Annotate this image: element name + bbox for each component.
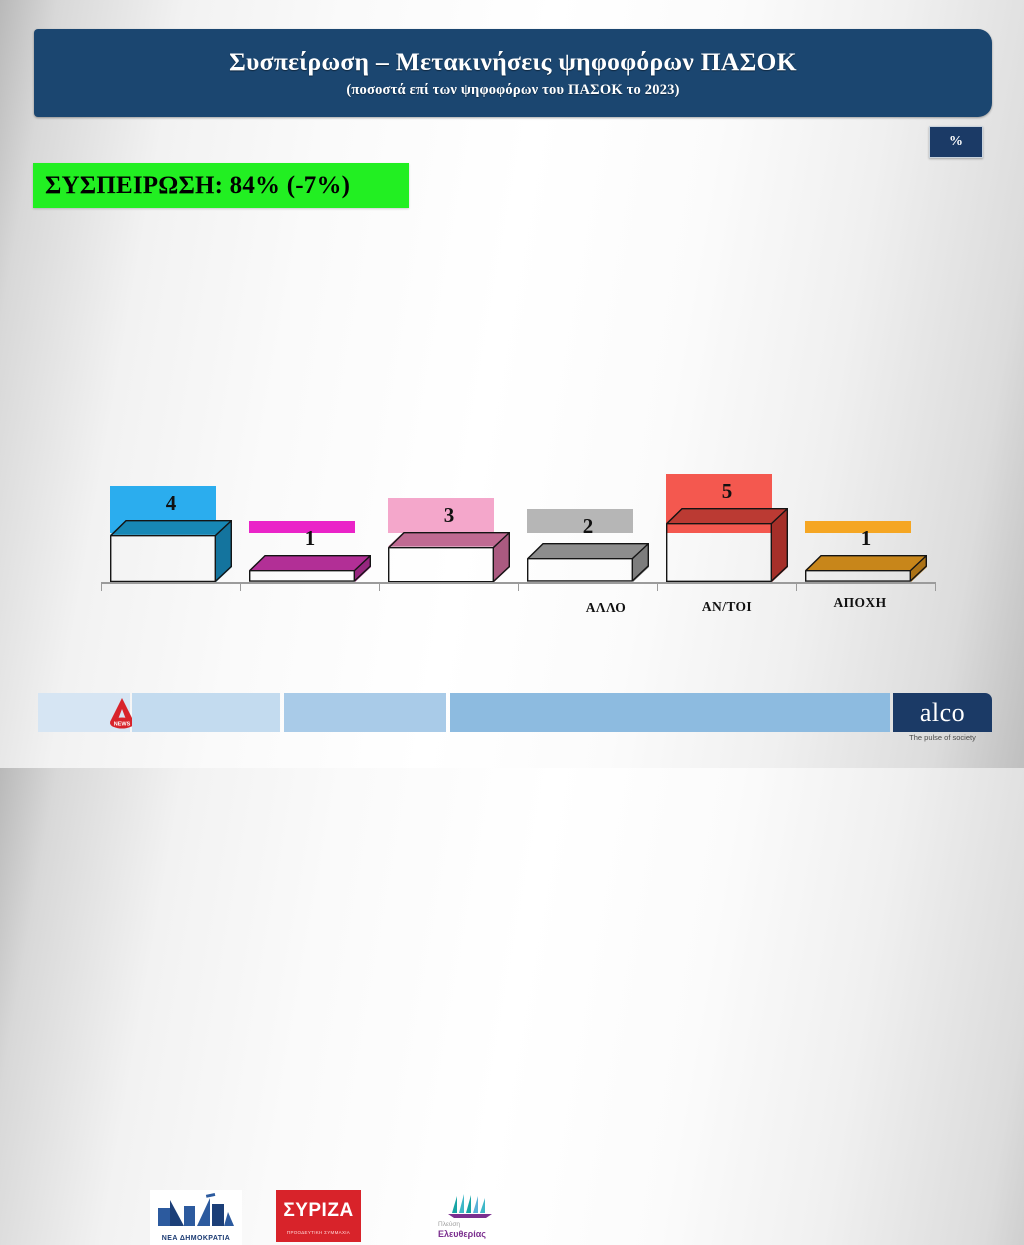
bar-top-face [527,543,649,558]
bar-value-label: 3 [388,503,510,528]
retention-banner-text: ΣΥΣΠΕΙΡΩΣΗ: 84% (-7%) [45,172,350,200]
svg-text:NEWS: NEWS [114,722,131,728]
x-axis-labels: ΝΕΑ ΔΗΜΟΚΡΑΤΙΑ ΣΥΡΙΖΑ ΠΡΟΟΔΕΥΤΙΚΗ ΣΥΜΜΑΧ… [0,592,1024,672]
bar-value-label: 5 [666,479,788,504]
bar-top-face [666,508,788,523]
percent-unit-badge: % [929,126,983,158]
bar-value-label: 1 [805,526,927,551]
x-axis-tick [379,582,380,591]
footer-segment-4 [450,693,890,732]
bar-item[interactable]: 3 [388,498,510,582]
bar-item[interactable]: 4 [110,486,232,582]
bar-chart: 413251 [0,430,1024,610]
slide-header: Συσπείρωση – Μετακινήσεις ψηφοφόρων ΠΑΣΟ… [34,29,992,117]
bar-item[interactable]: 5 [666,474,788,582]
bar-top-face [249,555,371,570]
x-axis-tick [935,582,936,591]
bar-top-face [110,520,232,535]
page-subtitle: (ποσοστά επί των ψηφοφόρων του ΠΑΣΟΚ το … [346,82,679,99]
footer-segment-2 [132,693,280,732]
page-title: Συσπείρωση – Μετακινήσεις ψηφοφόρων ΠΑΣΟ… [229,47,797,76]
bar-item[interactable]: 2 [527,509,649,582]
bar-value-label: 4 [110,491,232,516]
plefsi-logo-text-top: Πλεύση [438,1221,460,1228]
alco-tagline: The pulse of society [893,733,992,742]
percent-unit-label: % [949,134,963,150]
bar-value-label: 1 [249,526,371,551]
x-label-antoi: ΑΝ/ΤΟΙ [657,599,797,615]
bar-item[interactable]: 1 [805,521,927,582]
bar-top-face [805,555,927,570]
slide-footer: NEWS alco The pulse of society [0,693,1024,745]
x-axis-tick [101,582,102,591]
x-label-apoxi: ΑΠΟΧΗ [790,595,930,611]
x-axis-tick [518,582,519,591]
x-axis-tick [657,582,658,591]
syriza-logo-text: ΣΥΡΙΖΑ [276,1200,361,1222]
syriza-logo-subtext: ΠΡΟΟΔΕΥΤΙΚΗ ΣΥΜΜΑΧΙΑ [276,1230,361,1235]
sailboat-icon [444,1193,496,1219]
bar-item[interactable]: 1 [249,521,371,582]
alco-logo: alco The pulse of society [893,693,992,745]
slide-root: Συσπείρωση – Μετακινήσεις ψηφοφόρων ΠΑΣΟ… [0,0,1024,768]
x-axis-tick [796,582,797,591]
bar-top-face [388,532,510,547]
logo-plefsi-eleftherias: Πλεύση Ελευθερίας [430,1190,510,1245]
retention-banner: ΣΥΣΠΕΙΡΩΣΗ: 84% (-7%) [33,163,409,208]
x-axis-tick [240,582,241,591]
footer-segment-3 [284,693,446,732]
bar-value-label: 2 [527,514,649,539]
alco-logo-box: alco [893,693,992,732]
alco-brand-text: alco [920,700,965,726]
plefsi-logo-text-bottom: Ελευθερίας [438,1229,486,1239]
x-label-allo: ΑΛΛΟ [536,600,676,616]
logo-syriza: ΣΥΡΙΖΑ ΠΡΟΟΔΕΥΤΙΚΗ ΣΥΜΜΑΧΙΑ [276,1190,361,1242]
nd-emblem-icon [150,1192,242,1228]
footer-segment-1: NEWS [38,693,130,732]
logo-nea-dimokratia: ΝΕΑ ΔΗΜΟΚΡΑΤΙΑ [150,1190,242,1245]
nd-logo-text: ΝΕΑ ΔΗΜΟΚΡΑΤΙΑ [150,1235,242,1242]
